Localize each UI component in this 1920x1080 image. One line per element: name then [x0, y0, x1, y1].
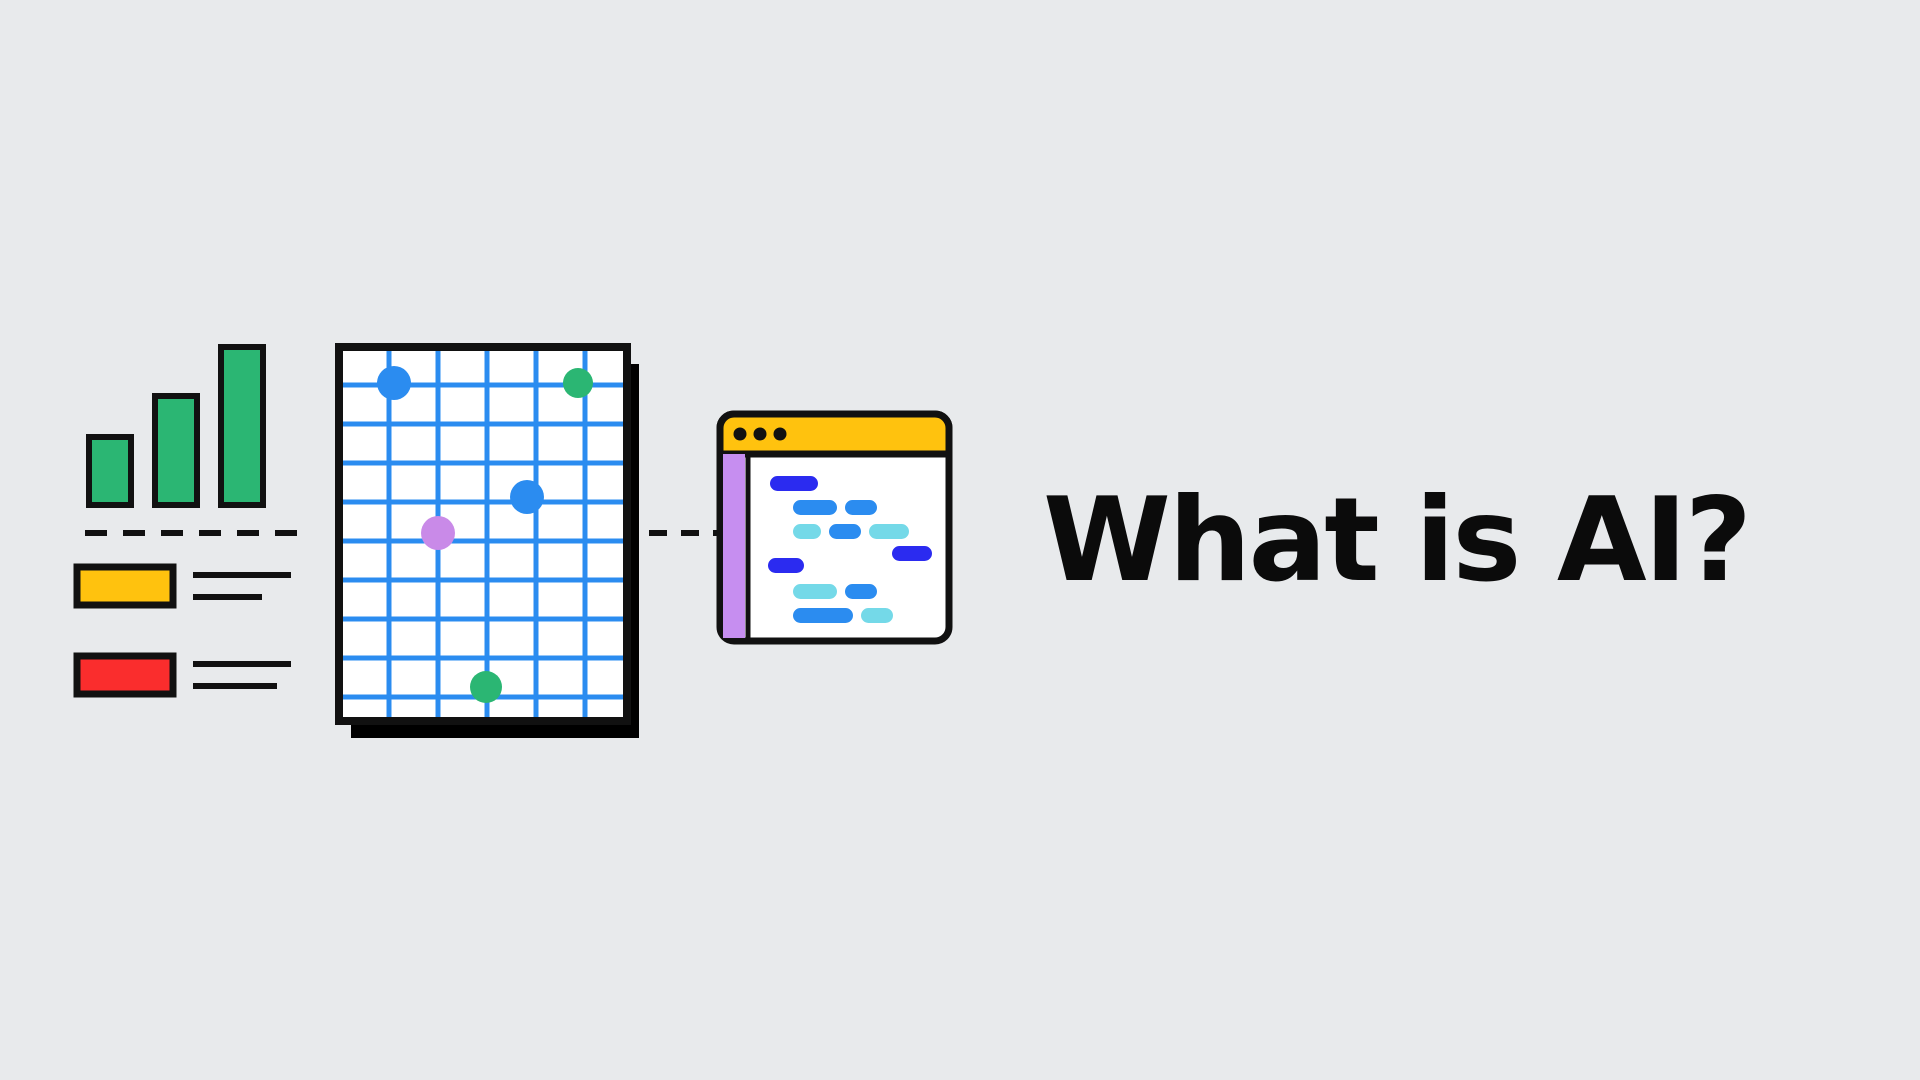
window-dot-1[interactable] — [734, 428, 747, 441]
code-token — [845, 500, 877, 515]
bar-1 — [89, 437, 131, 505]
code-token — [793, 608, 853, 623]
code-token — [768, 558, 804, 573]
code-token — [845, 584, 877, 599]
illustration-canvas: What is AI? — [0, 0, 1920, 1080]
code-token — [793, 500, 837, 515]
point-green-1 — [563, 368, 593, 398]
point-green-2 — [470, 671, 502, 703]
window-dot-2[interactable] — [754, 428, 767, 441]
legend-swatch-yellow — [77, 567, 173, 605]
code-token — [793, 584, 837, 599]
window-dot-3[interactable] — [774, 428, 787, 441]
code-token — [829, 524, 861, 539]
legend — [77, 567, 291, 694]
code-token — [793, 524, 821, 539]
page-title: What is AI? — [1043, 483, 1750, 599]
bar-chart — [89, 347, 263, 505]
legend-swatch-red — [77, 656, 173, 694]
bar-3 — [221, 347, 263, 505]
point-blue-2 — [510, 480, 544, 514]
scatter-plot-card — [339, 347, 639, 738]
code-window — [720, 414, 949, 641]
point-purple-1 — [421, 516, 455, 550]
code-token — [892, 546, 932, 561]
code-window-sidebar — [723, 454, 745, 638]
code-token — [770, 476, 818, 491]
point-blue-1 — [377, 366, 411, 400]
code-token — [861, 608, 893, 623]
bar-2 — [155, 396, 197, 505]
code-token — [869, 524, 909, 539]
